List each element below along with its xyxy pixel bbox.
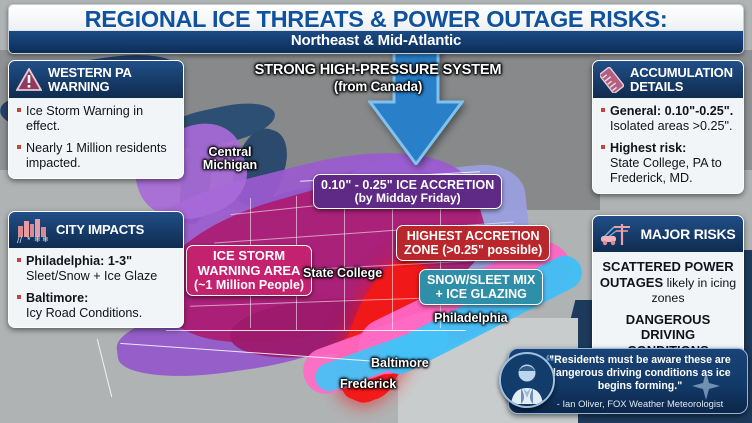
svg-text://: // — [17, 235, 23, 243]
city-skyline-snow-icon: // * ❄ ❄ — [16, 217, 50, 243]
svg-text:❄: ❄ — [34, 235, 41, 243]
card-major-risks[interactable]: MAJOR RISKS SCATTERED POWER OUTAGES like… — [592, 215, 744, 367]
ice-storm-warning-sub: (~1 Million People) — [194, 278, 304, 292]
page-title: REGIONAL ICE THREATS & POWER OUTAGE RISK… — [9, 6, 743, 33]
highest-accretion-main: HIGHEST ACCRETION — [404, 229, 542, 243]
bullet-text: Isolated areas >0.25". — [610, 119, 732, 133]
bullet-text: State College, PA to Frederick, MD. — [610, 156, 722, 185]
highest-accretion-sub: ZONE (>0.25" possible) — [404, 243, 542, 257]
city-label-state-college: State College — [303, 266, 382, 280]
ice-storm-warning-label: ICE STORM WARNING AREA (~1 Million Peopl… — [186, 245, 312, 296]
high-pressure-label: STRONG HIGH-PRESSURE SYSTEM (from Canada… — [218, 62, 538, 94]
avatar — [499, 352, 555, 408]
bullet-item: Nearly 1 Million residents impacted. — [17, 141, 175, 171]
high-pressure-arrow-icon — [368, 40, 464, 165]
card-city-impacts-title: CITY IMPACTS — [56, 223, 144, 237]
card-western-pa-title: WESTERN PA WARNING — [48, 66, 176, 93]
snow-sleet-mix-label: SNOW/SLEET MIX + ICE GLAZING — [419, 269, 543, 305]
card-accumulation-title: ACCUMULATION DETAILS — [630, 66, 736, 93]
risk-line: SCATTERED POWER OUTAGES likely in icing … — [599, 259, 737, 306]
risk-line-rest: likely in icing zones — [651, 276, 736, 305]
bullet-item: General: 0.10"-0.25". Isolated areas >0.… — [601, 104, 735, 134]
card-accumulation-body: General: 0.10"-0.25". Isolated areas >0.… — [593, 98, 743, 192]
svg-text:❄: ❄ — [42, 235, 49, 243]
card-western-pa-body: Ice Storm Warning in effect. Nearly 1 Mi… — [9, 98, 183, 177]
card-city-impacts-body: Philadelphia: 1-3" Sleet/Snow + Ice Glaz… — [9, 248, 183, 327]
bullet-bold: General: 0.10"-0.25". — [610, 104, 733, 118]
county-line-v5 — [440, 200, 441, 328]
snow-sleet-mix-sub: + ICE GLAZING — [427, 287, 535, 301]
county-line-v3 — [344, 194, 345, 330]
bullet-bold: Baltimore: — [26, 291, 88, 305]
city-label-frederick: Frederick — [340, 377, 396, 391]
ice-storm-warning-main: ICE STORM — [194, 249, 304, 264]
bullet-item: Ice Storm Warning in effect. — [17, 104, 175, 134]
ice-accretion-main: 0.10" - 0.25" ICE ACCRETION — [321, 178, 494, 192]
sparkle-icon — [692, 372, 720, 400]
card-city-impacts[interactable]: // * ❄ ❄ CITY IMPACTS Philadelphia: 1-3"… — [8, 211, 184, 328]
svg-text:*: * — [27, 235, 31, 243]
card-western-pa-header: WESTERN PA WARNING — [9, 61, 183, 98]
ruler-icon — [600, 67, 624, 93]
header-banner: REGIONAL ICE THREATS & POWER OUTAGE RISK… — [8, 4, 744, 54]
bullet-item: Philadelphia: 1-3" Sleet/Snow + Ice Glaz… — [17, 254, 175, 284]
page-subtitle: Northeast & Mid-Atlantic — [9, 32, 743, 49]
downed-power-line-icon — [600, 221, 634, 247]
weather-graphic: STRONG HIGH-PRESSURE SYSTEM (from Canada… — [0, 0, 752, 423]
bullet-text: Sleet/Snow + Ice Glaze — [26, 269, 157, 283]
region-label-line2: Michigan — [180, 159, 280, 172]
county-line-v4 — [392, 196, 393, 330]
region-label-central-michigan: Central Michigan — [180, 146, 280, 173]
card-accumulation-details[interactable]: ACCUMULATION DETAILS General: 0.10"-0.25… — [592, 60, 744, 194]
high-pressure-sub: (from Canada) — [218, 79, 538, 94]
bullet-item: Baltimore: Icy Road Conditions. — [17, 291, 175, 321]
bullet-item: Highest risk: State College, PA to Frede… — [601, 141, 735, 186]
card-western-pa-warning[interactable]: WESTERN PA WARNING Ice Storm Warning in … — [8, 60, 184, 179]
ice-accretion-sub: (by Midday Friday) — [321, 192, 494, 205]
state-line-pa-md — [166, 330, 466, 331]
ice-accretion-label: 0.10" - 0.25" ICE ACCRETION (by Midday F… — [313, 174, 502, 209]
bullet-bold: Highest risk: — [610, 141, 686, 155]
warning-triangle-icon — [16, 68, 42, 92]
city-label-philadelphia: Philadelphia — [434, 311, 508, 325]
header-subtitle-bar: Northeast & Mid-Atlantic — [9, 31, 743, 53]
highest-accretion-label: HIGHEST ACCRETION ZONE (>0.25" possible) — [396, 225, 550, 261]
ice-storm-warning-main2: WARNING AREA — [194, 264, 304, 279]
snow-sleet-mix-main: SNOW/SLEET MIX — [427, 273, 535, 287]
city-label-baltimore: Baltimore — [371, 356, 429, 370]
card-accumulation-header: ACCUMULATION DETAILS — [593, 61, 743, 98]
card-major-risks-title: MAJOR RISKS — [640, 227, 735, 242]
bullet-bold: Philadelphia: 1-3" — [26, 254, 132, 268]
card-city-impacts-header: // * ❄ ❄ CITY IMPACTS — [9, 212, 183, 248]
bullet-text: Icy Road Conditions. — [26, 306, 142, 320]
high-pressure-main: STRONG HIGH-PRESSURE SYSTEM — [218, 62, 538, 79]
card-major-risks-header: MAJOR RISKS — [593, 216, 743, 252]
